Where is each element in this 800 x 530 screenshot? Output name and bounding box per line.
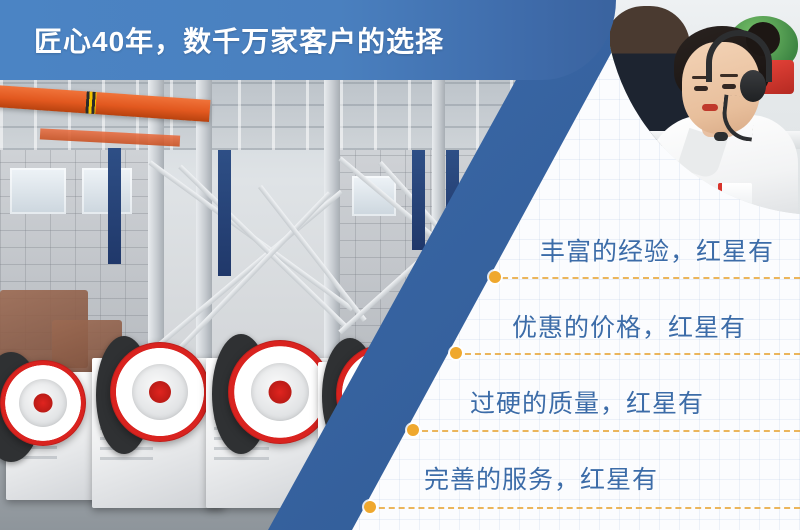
promo-banner: HXJQ — [0, 0, 800, 530]
feature-row-1: 丰富的经验，红星有 — [540, 222, 774, 278]
feature-text-3: 过硬的质量，红星有 — [470, 384, 704, 420]
feature-row-3: 过硬的质量，红星有 — [470, 374, 704, 430]
feature-divider-3 — [412, 430, 800, 432]
feature-text-2: 优惠的价格，红星有 — [512, 308, 746, 344]
feature-text-4: 完善的服务，红星有 — [424, 460, 658, 496]
feature-dot-1 — [489, 271, 501, 283]
feature-dot-4 — [364, 501, 376, 513]
feature-text-1: 丰富的经验，红星有 — [540, 232, 774, 268]
feature-row-2: 优惠的价格，红星有 — [512, 298, 746, 354]
feature-dot-3 — [407, 424, 419, 436]
feature-dot-2 — [450, 347, 462, 359]
feature-row-4: 完善的服务，红星有 — [424, 450, 658, 506]
feature-divider-1 — [492, 277, 800, 279]
feature-divider-4 — [369, 507, 800, 509]
page-title: 匠心40年，数千万家客户的选择 — [34, 20, 444, 60]
feature-divider-2 — [455, 353, 800, 355]
header-banner: 匠心40年，数千万家客户的选择 — [0, 0, 616, 80]
